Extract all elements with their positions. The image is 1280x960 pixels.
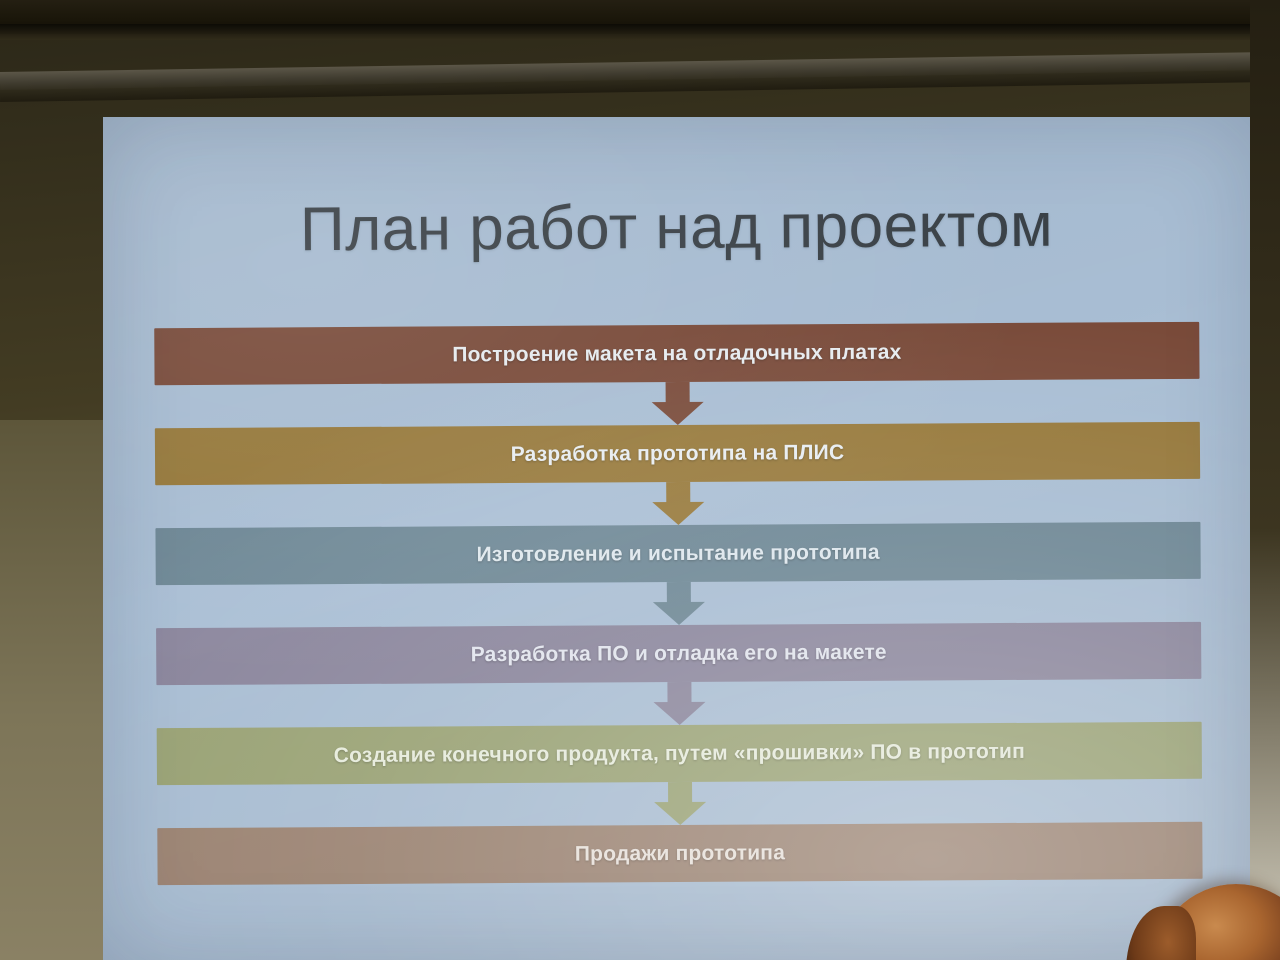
process-step-6: Продажи прототипа: [157, 822, 1202, 885]
process-step-3-label: Изготовление и испытание прототипа: [155, 522, 1200, 585]
process-step-5: Создание конечного продукта, путем «прош…: [157, 722, 1202, 785]
projection-screen: План работ над проектом Построение макет…: [103, 117, 1253, 960]
wall-right-edge: [1250, 0, 1280, 960]
arrow-head: [653, 702, 705, 725]
ceiling-beam-shadow: [0, 24, 1280, 40]
arrow-stem: [668, 782, 692, 804]
connector-gap-5: [157, 779, 1202, 828]
connector-gap-1: [155, 379, 1200, 428]
presentation-slide: План работ над проектом Построение макет…: [103, 117, 1253, 960]
process-step-1-label: Построение макета на отладочных платах: [154, 322, 1199, 385]
process-step-4-label: Разработка ПО и отладка его на макете: [156, 622, 1201, 685]
arrow-stem: [666, 482, 690, 504]
arrow-down-icon: [653, 682, 705, 725]
process-step-1: Построение макета на отладочных платах: [154, 322, 1199, 385]
arrow-down-icon: [651, 382, 703, 425]
process-step-3: Изготовление и испытание прототипа: [155, 522, 1200, 585]
arrow-head: [652, 502, 704, 525]
photo-scene: План работ над проектом Построение макет…: [0, 0, 1280, 960]
arrow-down-icon: [654, 782, 706, 825]
process-step-4: Разработка ПО и отладка его на макете: [156, 622, 1201, 685]
connector-gap-4: [156, 679, 1201, 728]
process-flow-diagram: Построение макета на отладочных платах Р…: [154, 322, 1202, 885]
arrow-down-icon: [652, 482, 704, 525]
process-step-6-label: Продажи прототипа: [157, 822, 1202, 885]
connector-gap-3: [156, 579, 1201, 628]
arrow-stem: [666, 582, 690, 604]
arrow-head: [652, 602, 704, 625]
process-step-5-label: Создание конечного продукта, путем «прош…: [157, 722, 1202, 785]
arrow-head: [654, 802, 706, 825]
wall-left-lit-strip: [0, 420, 104, 960]
arrow-head: [651, 402, 703, 425]
slide-title: План работ над проектом: [103, 191, 1252, 263]
process-step-2-label: Разработка прототипа на ПЛИС: [155, 422, 1200, 485]
process-step-2: Разработка прототипа на ПЛИС: [155, 422, 1200, 485]
connector-gap-2: [155, 479, 1200, 528]
arrow-stem: [665, 382, 689, 404]
arrow-stem: [667, 682, 691, 704]
arrow-down-icon: [652, 582, 704, 625]
